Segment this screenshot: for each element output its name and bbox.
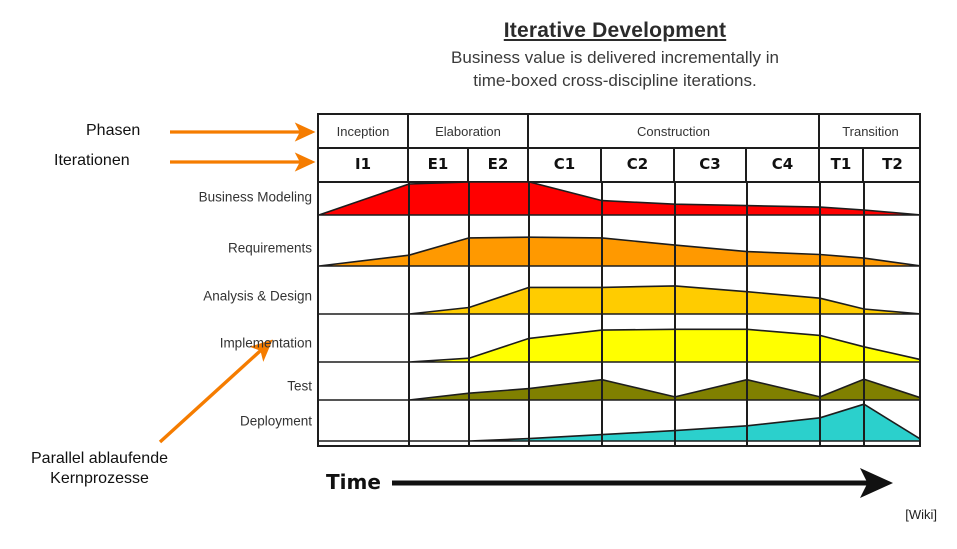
annotation-iterationen: Iterationen bbox=[54, 152, 130, 170]
annotation-kernprozesse: Parallel ablaufende Kernprozesse bbox=[2, 449, 197, 490]
attribution-label: [Wiki] bbox=[905, 507, 937, 522]
discipline-label-analysis-design: Analysis & Design bbox=[203, 288, 312, 303]
time-axis-arrow bbox=[390, 468, 910, 498]
page-title: Iterative Development bbox=[330, 18, 900, 43]
annotation-kernprozesse-line-1: Parallel ablaufende bbox=[31, 450, 168, 467]
annotation-kernprozesse-line-2: Kernprozesse bbox=[50, 470, 149, 487]
iteration-chart: InceptionElaborationConstructionTransiti… bbox=[317, 113, 921, 447]
discipline-label-deployment: Deployment bbox=[240, 414, 312, 429]
subtitle-line-2: time-boxed cross-discipline iterations. bbox=[330, 70, 900, 92]
discipline-curves bbox=[319, 115, 919, 445]
time-axis-label: Time bbox=[326, 470, 381, 494]
subtitle-line-1: Business value is delivered incrementall… bbox=[330, 47, 900, 69]
discipline-label-business-modeling: Business Modeling bbox=[199, 189, 312, 204]
title-block: Iterative Development Business value is … bbox=[330, 18, 900, 92]
discipline-label-implementation: Implementation bbox=[220, 335, 312, 350]
annotation-phasen: Phasen bbox=[86, 122, 140, 140]
discipline-label-test: Test bbox=[287, 379, 312, 394]
diagram-canvas: Iterative Development Business value is … bbox=[0, 0, 957, 549]
discipline-label-requirements: Requirements bbox=[228, 240, 312, 255]
